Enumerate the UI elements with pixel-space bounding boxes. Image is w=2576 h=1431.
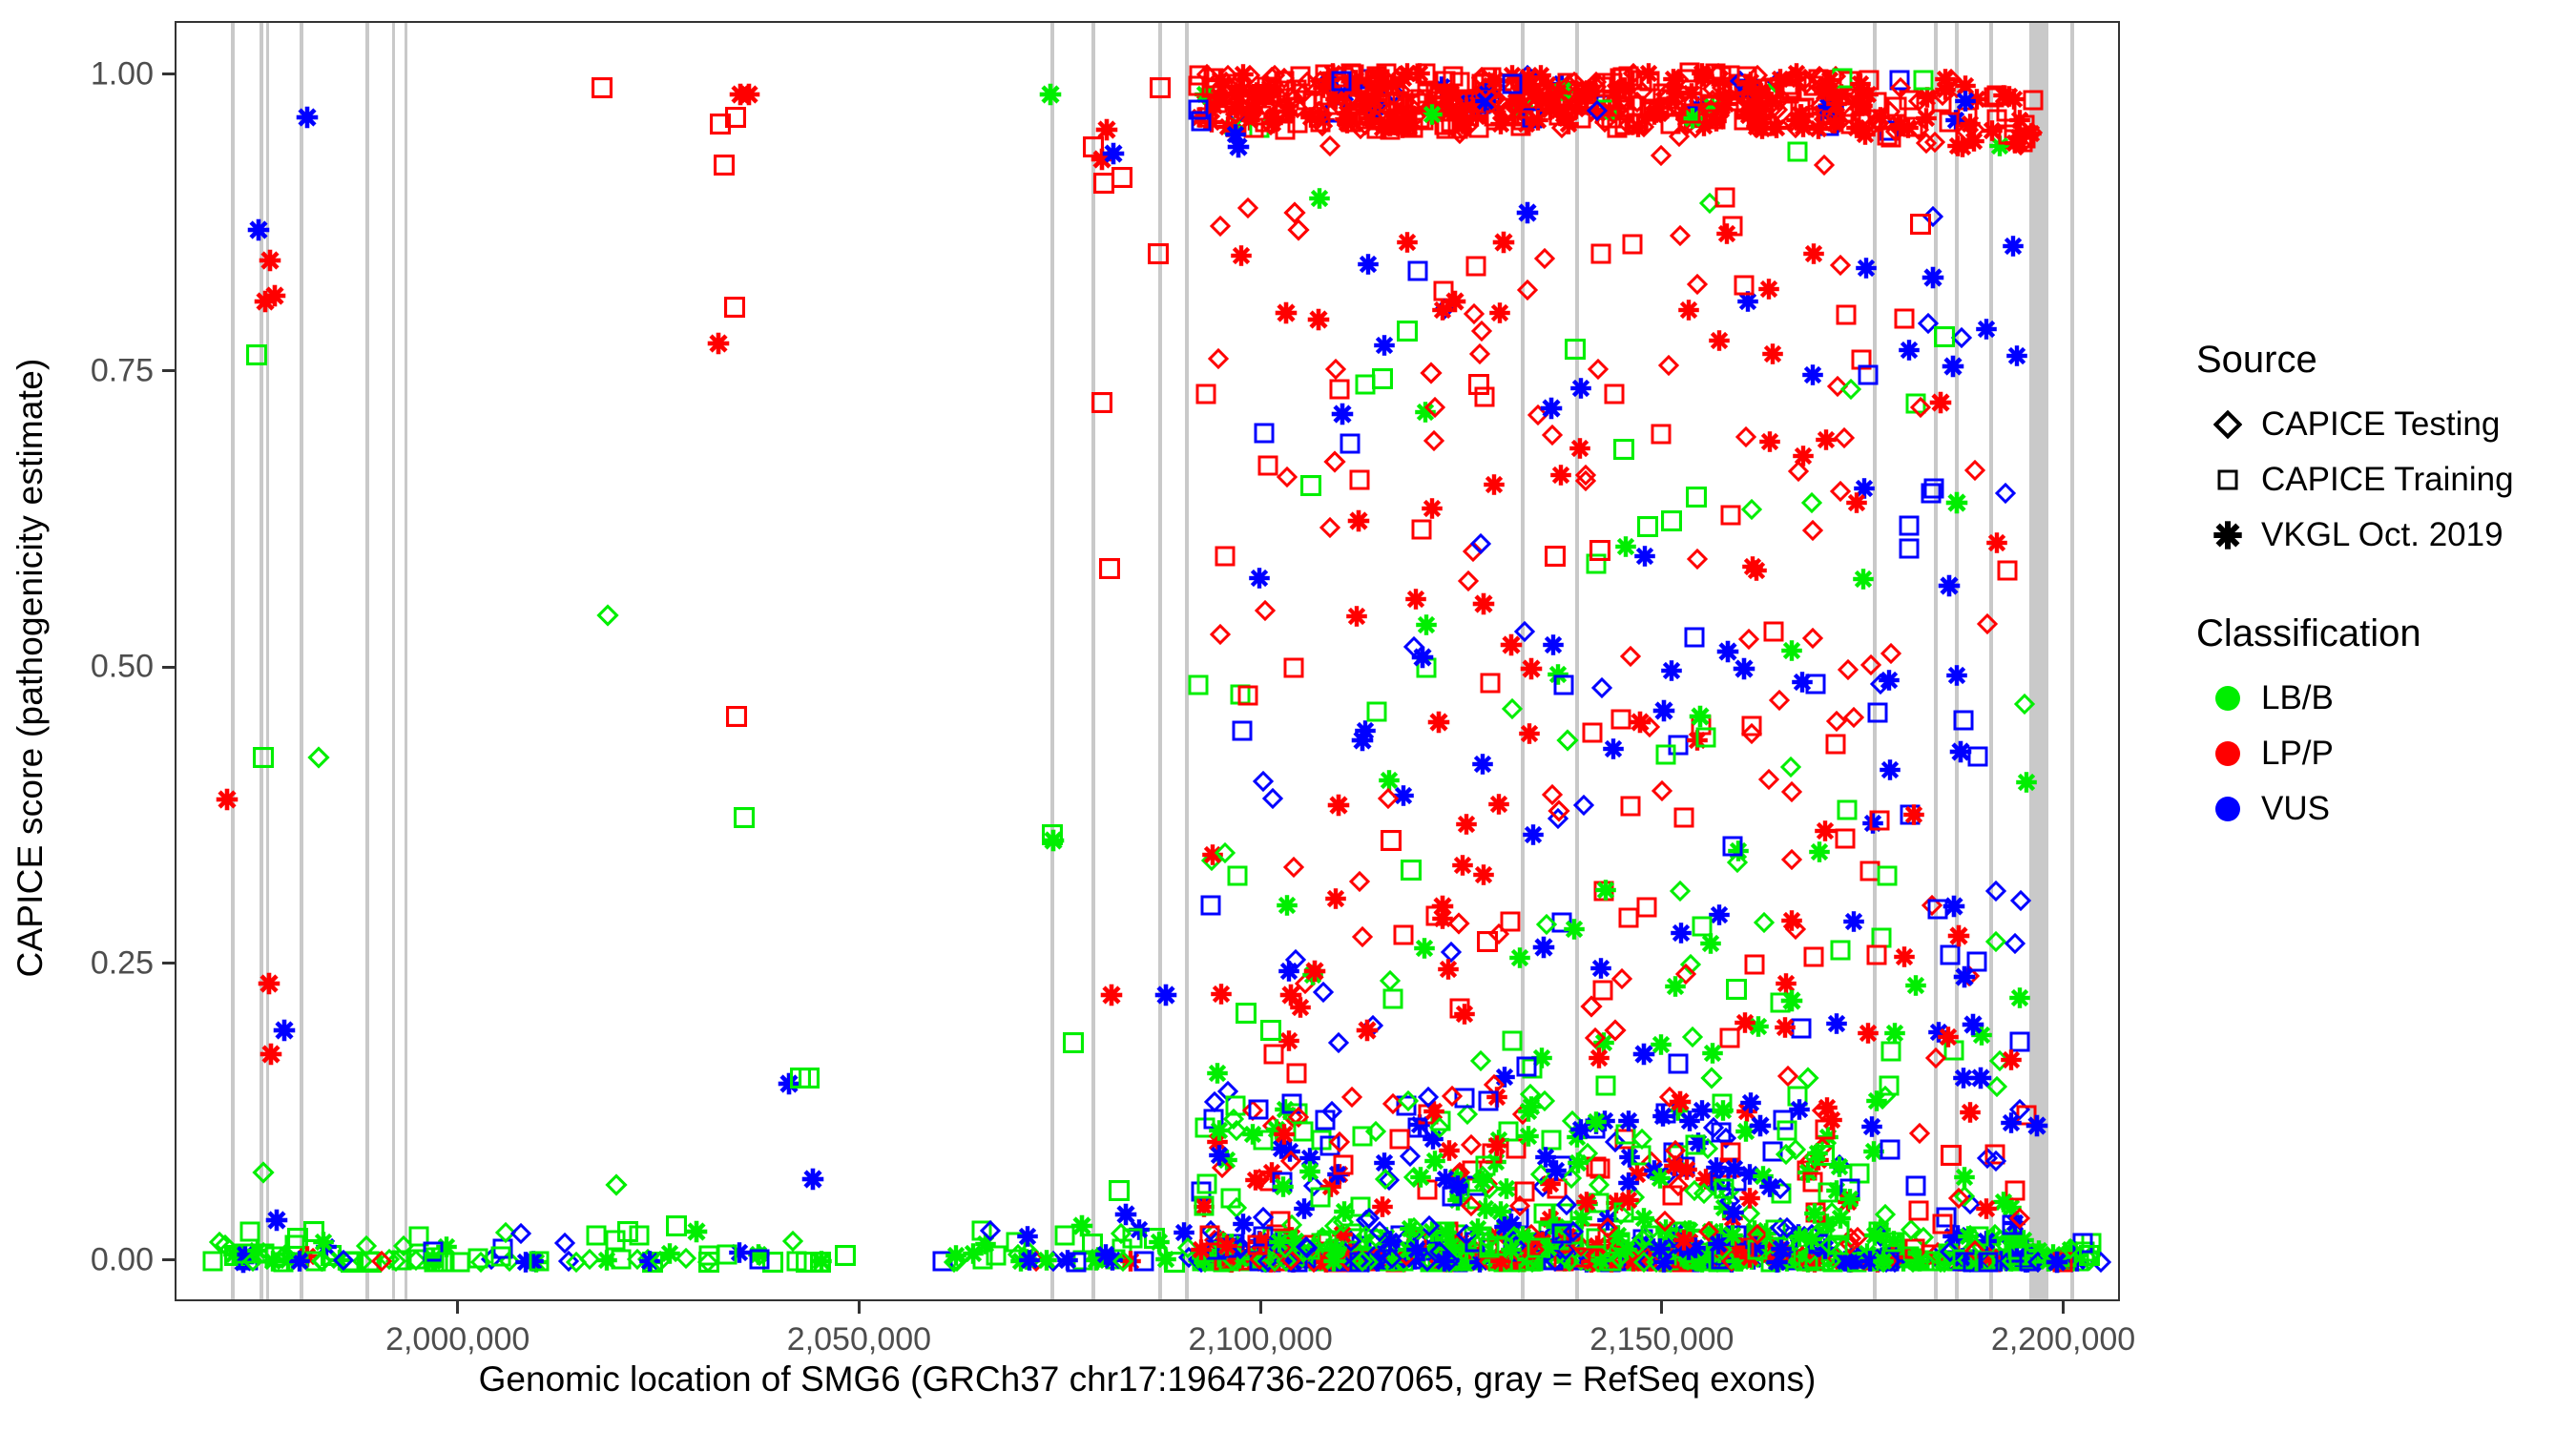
data-point [1279,984,1301,1006]
data-point [1260,1252,1281,1273]
data-point [1826,1249,1847,1270]
data-point [710,113,732,135]
data-point [1910,397,1931,418]
data-point [1859,861,1880,881]
data-point [1366,701,1387,722]
data-point [1452,855,1473,876]
data-point [749,1245,770,1266]
data-point [1214,1238,1235,1259]
data-point [1299,1148,1320,1169]
data-point [1829,1220,1850,1241]
data-point [1224,95,1245,116]
data-point [1111,166,1132,188]
data-point [1364,92,1385,113]
data-point [1272,100,1293,121]
data-point [1556,1194,1577,1215]
data-point [1495,1245,1516,1266]
legend-classification-label: LB/B [2261,679,2334,717]
data-point [1960,1102,1981,1123]
data-point [1531,1237,1552,1258]
data-point [1367,79,1388,100]
data-point [1435,71,1456,92]
data-point [1273,1176,1294,1197]
data-point [2001,1251,2022,1272]
data-point [1220,1252,1241,1273]
data-point [1738,100,1759,121]
data-point [1406,1239,1427,1260]
data-point [1742,1226,1763,1247]
data-point [1830,1208,1851,1229]
data-point [1775,1249,1796,1270]
data-point [1714,1178,1735,1199]
data-point [1309,188,1330,209]
data-point [1755,115,1776,136]
data-point [1441,942,1462,963]
data-point [1714,88,1735,109]
data-point [1329,1164,1350,1185]
data-point [1890,77,1911,98]
data-point [1321,1101,1342,1122]
data-point [1380,830,1402,852]
data-point [467,1248,488,1269]
data-point [1488,91,1509,112]
data-point [1280,1151,1301,1172]
data-point [1372,1196,1393,1217]
data-point [1904,1248,1925,1269]
data-point [1292,1247,1313,1268]
data-point [1827,85,1848,106]
data-point [1643,1217,1664,1238]
data-point [2080,1246,2101,1267]
data-point [1820,1251,1841,1272]
data-point [1488,794,1509,815]
data-point [1665,1140,1686,1161]
data-point [2009,1208,2030,1229]
data-point [1868,113,1889,134]
data-point [1657,1251,1678,1272]
data-point [1936,1207,1957,1228]
data-point [1818,1127,1839,1148]
data-point [1333,67,1354,88]
data-point [1791,104,1812,125]
data-point [1797,1067,1819,1089]
data-point [1319,517,1340,538]
data-point [1228,1249,1249,1270]
data-point [1877,125,1898,146]
data-point [1393,1248,1414,1269]
data-point [1884,1023,1905,1044]
data-point [1390,109,1411,130]
data-point [1429,1251,1450,1272]
data-point [1189,65,1210,86]
data-point [1722,1208,1743,1229]
exon-band [365,23,368,1299]
data-point [1762,84,1783,105]
data-point [1605,1020,1627,1042]
data-point [2005,1213,2025,1234]
data-point [1721,1245,1742,1266]
data-point [1740,100,1761,121]
x-tick [858,1301,861,1314]
data-point [1226,91,1247,112]
data-point [1314,85,1335,106]
data-point [1677,69,1698,90]
data-point [1715,1128,1736,1149]
data-point [1476,931,1498,953]
legend-classification-item[interactable]: VUS [2194,781,2576,837]
data-point [1473,864,1494,885]
data-point [1800,1250,1821,1271]
data-point [1282,1252,1303,1273]
data-point [1697,1138,1718,1159]
data-point [1285,1249,1306,1270]
data-point [1425,83,1446,104]
data-point [1366,111,1387,132]
data-point [1921,1244,1942,1265]
data-point [1070,1215,1092,1237]
data-point [1358,95,1379,116]
data-point [1711,1249,1732,1270]
data-point [1965,1237,1986,1258]
data-point [1207,1063,1228,1084]
data-point [1741,723,1762,744]
data-point [1792,1245,1813,1266]
data-point [1538,1237,1559,1258]
data-point [1337,113,1358,134]
data-point [1204,95,1225,116]
data-point [1267,1233,1288,1254]
data-point [1993,85,2014,106]
data-point [1880,643,1901,664]
plot-area [177,23,2118,1299]
data-point [1706,1241,1727,1262]
legend-classification-item[interactable]: LB/B [2194,671,2576,726]
data-point [2003,236,2024,257]
data-point [1447,1164,1468,1185]
data-point [1840,1252,1861,1273]
data-point [1723,1249,1744,1270]
data-point [1466,1189,1487,1210]
data-point [1430,1110,1451,1131]
data-point [1711,1223,1732,1244]
data-point [1400,94,1421,115]
data-point [1811,1250,1832,1271]
data-point [1320,78,1341,99]
data-point [1358,79,1379,100]
data-point [1403,1167,1424,1188]
data-point [1702,78,1723,99]
data-point [1668,1175,1689,1196]
data-point [1311,1130,1332,1151]
legend-source-item[interactable]: CAPICE Training [2194,452,2576,508]
data-point [1628,1234,1649,1255]
data-point [1674,1156,1695,1177]
data-point [1207,1131,1228,1152]
data-point [1099,557,1121,579]
data-point [1738,629,1759,650]
data-point [1601,1251,1622,1272]
data-point [1880,1139,1901,1160]
data-point [1781,849,1802,870]
data-point [1313,1243,1334,1264]
data-point [1475,91,1496,112]
data-point [1261,1162,1282,1183]
data-point [1326,1251,1347,1272]
data-point [1461,1195,1482,1216]
data-point [1867,1252,1888,1273]
legend-classification-item[interactable]: LP/P [2194,726,2576,781]
data-point [1385,108,1406,129]
data-point [1441,1248,1462,1269]
data-point [1717,1251,1738,1272]
data-point [1618,66,1639,87]
data-point [1331,71,1352,92]
data-point [1995,1249,2016,1270]
data-point [1704,1172,1725,1192]
data-point [1427,1246,1448,1267]
data-point [1586,553,1607,574]
data-point [1432,895,1454,917]
data-point [1457,116,1478,137]
data-point [1801,1229,1822,1250]
data-point [1374,1152,1395,1173]
data-point [1707,1178,1728,1199]
data-point [359,1251,380,1272]
data-point [1478,1090,1499,1111]
data-point [1382,1251,1403,1272]
data-point [1270,101,1291,122]
data-point [1311,1233,1332,1254]
data-point [234,1243,255,1264]
data-point [1376,1227,1397,1248]
data-point [1418,1104,1439,1125]
y-tick [162,369,175,372]
data-point [1530,65,1551,86]
legend-source-item[interactable]: CAPICE Testing [2194,397,2576,452]
data-point [1767,99,1788,120]
data-point [1016,1249,1037,1270]
data-point [239,1221,260,1242]
data-point [1679,62,1700,83]
data-point [1714,86,1735,107]
data-point [1807,1236,1828,1257]
data-point [1776,1120,1797,1141]
data-point [1594,1110,1615,1131]
data-point [1277,1251,1298,1272]
data-point [2072,1233,2093,1254]
data-point [1324,102,1345,123]
data-point [1358,1252,1379,1273]
data-point [1708,1251,1729,1272]
data-point [1735,87,1755,108]
data-point [1672,1239,1693,1260]
data-point [1188,1251,1209,1272]
data-point [1230,84,1251,105]
data-point [1496,1178,1517,1199]
data-point [1246,1249,1267,1270]
data-point [1008,1244,1028,1265]
data-point [1439,1140,1460,1161]
data-point [1679,1232,1700,1253]
data-point [1398,1239,1419,1260]
data-point [1263,1239,1284,1260]
data-point [434,1252,455,1273]
data-point [1300,1234,1321,1255]
data-point [1325,1239,1346,1260]
data-point [778,1073,800,1095]
data-point [1649,98,1670,119]
data-point [1227,97,1248,118]
data-point [1333,1154,1354,1175]
data-point [1651,424,1672,445]
data-point [1700,933,1721,954]
data-point [1366,66,1387,87]
data-point [1547,1178,1568,1199]
data-point [1722,216,1743,237]
data-point [1486,1235,1507,1256]
data-point [235,1244,256,1265]
data-point [1810,1251,1831,1272]
exon-band [1521,23,1525,1299]
data-point [1839,1252,1859,1273]
data-point [1447,90,1468,111]
data-point [596,1250,617,1271]
data-point [1759,1244,1780,1265]
data-point [1229,1240,1250,1261]
data-point [1372,77,1393,98]
data-point [1253,86,1274,107]
data-point [1026,1251,1047,1272]
data-point [1253,1226,1274,1247]
data-point [495,1222,516,1243]
data-point [1792,1246,1813,1267]
data-point [1393,1251,1414,1272]
data-point [1681,102,1702,123]
data-point [1610,1235,1631,1256]
data-point [1890,1246,1911,1267]
data-point [1781,910,1802,931]
data-point [1949,1251,1970,1272]
data-point [697,1251,719,1273]
data-point [1788,1224,1809,1245]
data-point [1465,93,1485,114]
data-point [1270,1237,1291,1258]
data-point [1825,734,1846,755]
data-point [986,1245,1007,1266]
data-point [1737,291,1758,312]
data-point [1233,1213,1254,1234]
data-point [1203,68,1224,89]
data-point [1332,1224,1353,1245]
data-point [1581,1246,1602,1267]
data-point [1776,1251,1797,1272]
x-axis-title: Genomic location of SMG6 (GRCh37 chr17:1… [175,1359,2120,1400]
data-point [1801,492,1822,513]
data-point [1846,492,1867,513]
data-point [1412,646,1434,668]
data-point [1210,624,1231,645]
data-point [1227,136,1249,158]
data-point [1210,70,1231,91]
data-point [1606,1251,1627,1272]
data-point [1275,1099,1296,1120]
data-point [1478,1230,1499,1251]
data-point [1632,1044,1654,1066]
data-point [1383,82,1404,103]
data-point [1812,1100,1833,1121]
data-point [1120,1251,1141,1272]
data-point [1908,1200,1929,1221]
data-point [1654,1211,1675,1232]
data-point [1463,94,1484,115]
data-point [1236,101,1257,122]
data-point [1448,913,1470,935]
data-point [1237,1250,1258,1271]
data-point [1545,546,1567,568]
data-point [1264,1251,1285,1272]
data-point [1666,95,1687,116]
data-point [1531,1231,1552,1252]
data-point [1396,1095,1417,1116]
data-point [1709,904,1730,925]
data-point [1984,87,2005,108]
data-point [1570,1119,1591,1140]
data-point [2001,1112,2022,1133]
data-point [1646,102,1667,123]
data-point [1348,1251,1369,1272]
data-point [209,1232,230,1253]
y-tick-label: 0.75 [0,352,154,389]
data-point [1644,104,1665,125]
data-point [1226,1197,1247,1218]
data-point [1760,1252,1781,1273]
data-point [1881,1232,1902,1253]
data-point [1707,64,1728,85]
data-point [1655,1219,1676,1240]
data-point [1546,1216,1567,1237]
data-point [1768,1241,1789,1262]
legend-source-item[interactable]: VKGL Oct. 2019 [2194,508,2576,563]
data-point [1766,1252,1787,1273]
data-point [1689,705,1711,727]
data-point [1564,72,1585,93]
data-point [1613,88,1634,109]
data-point [1658,1234,1679,1255]
data-point [1459,93,1480,114]
data-point [1802,520,1823,541]
data-point [1196,1173,1217,1194]
data-point [1433,1252,1454,1273]
data-point [1959,1241,1980,1262]
data-point [1355,720,1376,741]
data-point [1691,715,1712,736]
data-point [1515,1248,1536,1269]
data-point [1942,1250,1963,1271]
data-point [1724,74,1745,95]
data-point [972,1249,993,1270]
data-point [1342,69,1363,90]
data-point [1708,1234,1729,1255]
data-point [1846,92,1867,113]
data-point [2001,1242,2022,1263]
data-point [1545,1251,1566,1272]
data-point [1759,431,1780,452]
data-point [1498,1121,1519,1142]
data-point [1764,77,1785,98]
data-point [1590,1250,1611,1271]
data-point [1828,1250,1849,1271]
data-point [1115,1203,1137,1225]
